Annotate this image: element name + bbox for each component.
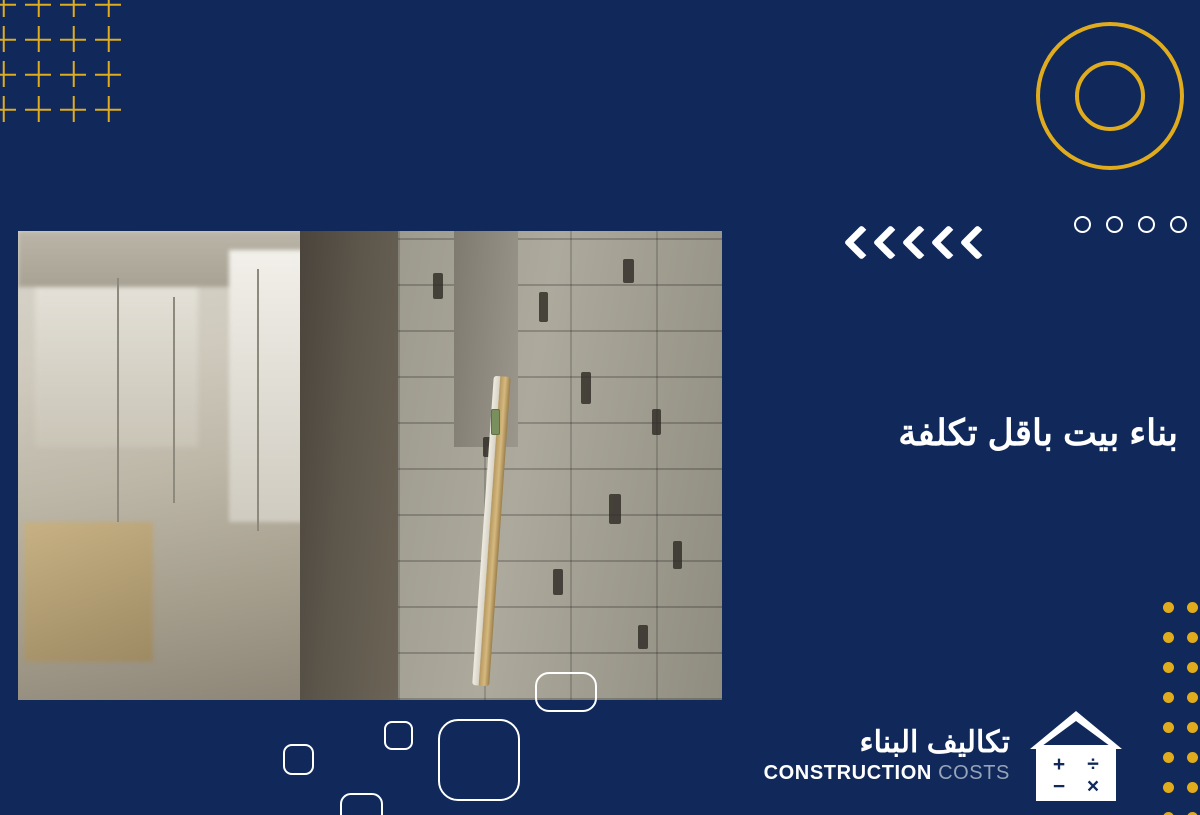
photo-block-wall: [398, 231, 722, 700]
dot-icon: [1163, 662, 1174, 673]
brand-logo[interactable]: تكاليف البناء CONSTRUCTION COSTS + ÷ − ×: [712, 705, 1124, 805]
promo-banner: بناء بيت باقل تكلفة تكاليف البناء CONSTR…: [0, 0, 1200, 815]
dot-icon: [1163, 602, 1174, 613]
house-calculator-icon: + ÷ − ×: [1028, 709, 1124, 801]
photo-level-vial: [491, 409, 500, 435]
dot-icon: [1187, 692, 1198, 703]
circle-icon: [1106, 216, 1123, 233]
plus-symbol-icon: +: [1053, 754, 1065, 775]
plus-grid-decoration: [0, 0, 126, 127]
logo-latin-primary: CONSTRUCTION: [764, 762, 932, 784]
photo-scaffold-pole: [173, 297, 175, 503]
dot-icon: [1187, 782, 1198, 793]
plus-icon: [0, 92, 21, 127]
photo-wall-stain: [433, 273, 443, 299]
dot-icon: [1187, 722, 1198, 733]
logo-text-block: تكاليف البناء CONSTRUCTION COSTS: [764, 726, 1010, 785]
dot-icon: [1163, 632, 1174, 643]
logo-latin-secondary: COSTS: [938, 762, 1010, 784]
plus-icon: [21, 57, 56, 92]
dot-icon: [1187, 602, 1198, 613]
photo-scaffold-pole: [117, 278, 119, 522]
photo-wall-stain: [623, 259, 634, 283]
plus-icon: [91, 92, 126, 127]
photo-wall-stain: [553, 569, 563, 595]
minus-symbol-icon: −: [1053, 776, 1065, 797]
chevron-row-decoration: [840, 224, 980, 262]
photo-grey-column: [454, 231, 517, 447]
plus-icon: [91, 57, 126, 92]
dot-icon: [1187, 752, 1198, 763]
rounded-square-decoration: [340, 793, 383, 815]
plus-icon: [56, 22, 91, 57]
circle-icon: [1074, 216, 1091, 233]
dot-icon: [1187, 632, 1198, 643]
plus-icon: [56, 92, 91, 127]
circle-icon: [1138, 216, 1155, 233]
rounded-square-decoration: [283, 744, 314, 775]
rounded-square-decoration: [438, 719, 520, 801]
chevron-left-icon: [956, 224, 980, 262]
photo-wall-stain: [673, 541, 682, 569]
plus-icon: [0, 0, 21, 22]
chevron-left-icon: [869, 224, 893, 262]
plus-icon: [56, 57, 91, 92]
dot-icon: [1163, 782, 1174, 793]
photo-wall-stain: [539, 292, 548, 322]
photo-wall-stain: [609, 494, 621, 524]
photo-scaffold-pole: [257, 269, 259, 532]
chevron-left-icon: [840, 224, 864, 262]
math-symbol-grid: + ÷ − ×: [1042, 753, 1110, 797]
circle-row-decoration: [1074, 216, 1187, 233]
plus-icon: [0, 57, 21, 92]
page-title: بناء بيت باقل تكلفة: [638, 408, 1178, 458]
photo-canvas: [18, 231, 722, 700]
times-symbol-icon: ×: [1087, 776, 1099, 797]
plus-icon: [56, 0, 91, 22]
rounded-square-decoration: [535, 672, 597, 712]
dot-icon: [1187, 662, 1198, 673]
inner-ring-icon: [1075, 61, 1145, 131]
circle-icon: [1170, 216, 1187, 233]
logo-latin-wordmark: CONSTRUCTION COSTS: [764, 762, 1010, 785]
hero-photo: [18, 231, 722, 700]
rounded-square-decoration: [384, 721, 413, 750]
plus-icon: [21, 0, 56, 22]
dot-icon: [1163, 692, 1174, 703]
chevron-left-icon: [927, 224, 951, 262]
logo-arabic-wordmark: تكاليف البناء: [764, 726, 1010, 759]
photo-dark-column: [300, 231, 399, 700]
photo-wall-stain: [581, 372, 591, 404]
plus-icon: [91, 0, 126, 22]
plus-icon: [91, 22, 126, 57]
photo-wall-stain: [638, 625, 648, 649]
plus-icon: [21, 22, 56, 57]
dot-grid-decoration: [1157, 594, 1200, 815]
dot-icon: [1163, 722, 1174, 733]
dot-icon: [1163, 752, 1174, 763]
plus-icon: [21, 92, 56, 127]
divide-symbol-icon: ÷: [1087, 754, 1099, 775]
plus-icon: [0, 22, 21, 57]
chevron-left-icon: [898, 224, 922, 262]
